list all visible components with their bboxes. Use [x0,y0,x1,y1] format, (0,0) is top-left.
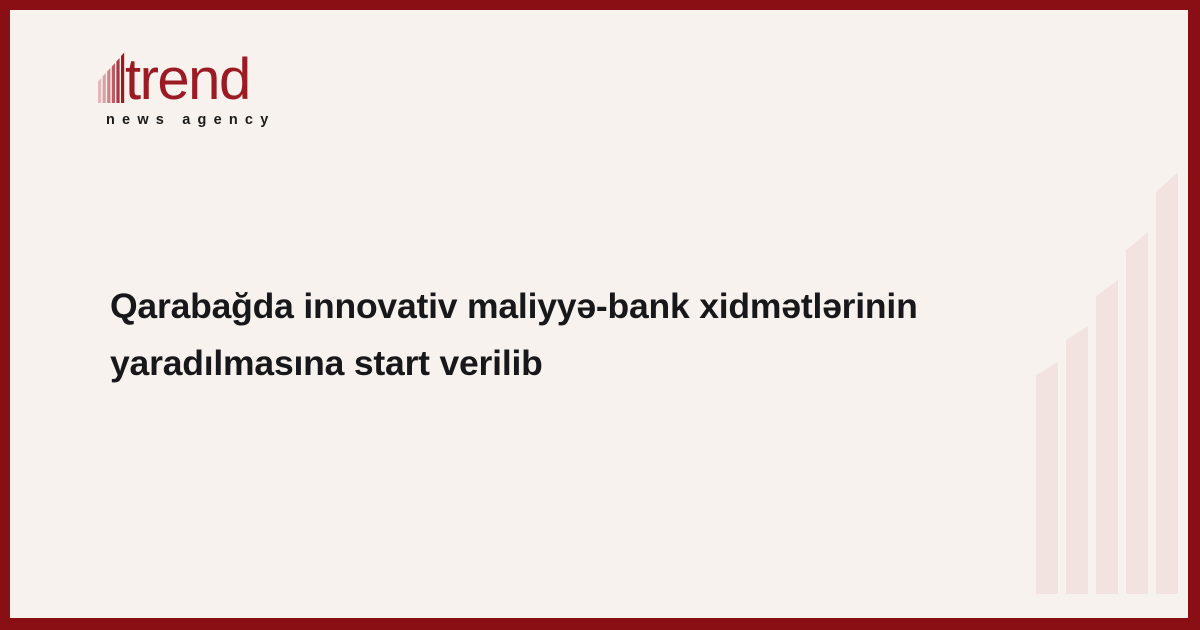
logo-tagline: news agency [106,112,398,128]
card-inner: trend news agency Qarabağda innovativ ma… [10,10,1188,618]
logo-row: trend [98,44,398,106]
decoration-bar [1066,326,1088,594]
decoration-bar [1036,362,1058,594]
decoration-bar [1126,232,1148,594]
logo-wordmark: trend [125,54,250,106]
ascending-bars-decoration [1036,170,1178,594]
ascending-bars-mark-icon [98,51,128,103]
decoration-bar [1096,280,1118,594]
social-share-card: trend news agency Qarabağda innovativ ma… [0,0,1200,630]
page-title: Qarabağda innovativ maliyyə-bank xidmətl… [110,278,990,392]
decoration-bar [1156,172,1178,594]
trend-logo[interactable]: trend news agency [98,44,398,140]
